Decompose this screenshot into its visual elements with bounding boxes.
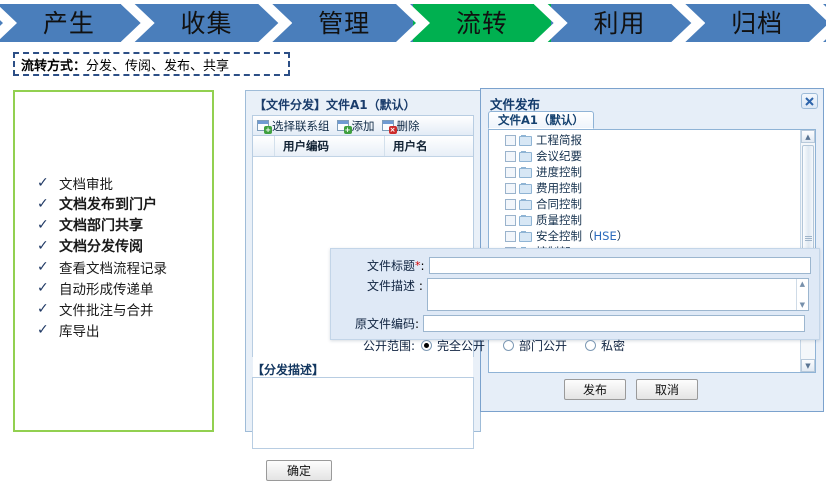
textarea-scroll-up-icon[interactable]: ▲ [797,280,808,288]
tree-checkbox[interactable] [505,151,516,162]
feature-item-label: 库导出 [59,320,100,340]
radio-button[interactable] [585,340,596,351]
form-row-title: 文件标题*: [339,257,811,274]
flow-method-label: 流转方式： [21,55,86,74]
tree-checkbox[interactable] [505,215,516,226]
screenshot-root: 产生收集管理流转利用归档 流转方式： 分发、传阅、发布、共享 ✓文档审批✓文档发… [0,0,826,436]
scope-radio-option[interactable]: 私密 [585,337,625,354]
tree-node-label: 费用控制 [536,180,582,196]
check-icon: ✓ [37,238,59,254]
window-delete-icon: × [382,120,395,132]
feature-item: ✓文档发布到门户 [37,193,167,214]
distribution-panel-title: 【文件分发】文件A1（默认） [254,96,416,113]
process-flow-band: 产生收集管理流转利用归档 [0,4,826,42]
scope-radio-label: 私密 [601,337,625,354]
tree-checkbox[interactable] [505,167,516,178]
check-icon: ✓ [37,196,59,212]
tree-node-label: 工程简报 [536,132,582,148]
field-label-origcode: 原文件编码 [339,315,415,332]
original-file-code-input[interactable] [423,315,805,332]
tree-checkbox[interactable] [505,183,516,194]
field-label-description: 文件描述 [339,278,415,295]
grid-column-username: 用户名 [385,136,473,156]
feature-item: ✓库导出 [37,319,167,340]
grid-column-select [253,136,275,156]
tree-node[interactable]: 质量控制 [489,212,799,228]
scroll-down-icon[interactable]: ▼ [801,359,815,372]
field-label-scope: 公开范围: [339,337,415,354]
distribution-desc-title: 【分发描述】 [252,361,324,378]
check-icon: ✓ [37,175,59,191]
feature-list-box: ✓文档审批✓文档发布到门户✓文档部门共享✓文档分发传阅✓查看文档流程记录✓自动形… [13,90,214,432]
process-step-label: 产生 [43,11,95,36]
flow-method-note: 流转方式： 分发、传阅、发布、共享 [13,52,290,76]
window-add-icon: + [257,120,270,132]
tree-checkbox[interactable] [505,135,516,146]
toolbar-add-action[interactable]: +选择联系组 [257,118,330,134]
close-glyph [805,97,814,106]
radio-button[interactable] [503,340,514,351]
folder-icon [519,231,532,242]
form-row-description: 文件描述 : ▲ ▼ [339,278,809,311]
process-step-label: 流转 [456,11,508,36]
process-step-5[interactable]: 利用 [551,4,689,42]
feature-item: ✓自动形成传递单 [37,277,167,298]
file-description-textarea[interactable]: ▲ ▼ [427,278,809,311]
folder-icon [519,199,532,210]
check-icon: ✓ [37,280,59,296]
feature-item-label: 文件批注与合并 [59,299,154,319]
feature-item-label: 文档分发传阅 [59,236,143,256]
radio-selected-dot [424,343,429,348]
process-step-label: 管理 [318,11,370,36]
feature-item-label: 文档部门共享 [59,215,143,235]
textarea-scrollbar[interactable]: ▲ ▼ [796,279,808,310]
publish-dialog-tabbar: 文件A1（默认） [488,111,816,130]
grid-column-usercode: 用户编码 [275,136,385,156]
scope-radio-label: 部门公开 [519,337,567,354]
flow-method-value: 分发、传阅、发布、共享 [86,55,229,74]
scrollbar-grip-icon [805,236,812,242]
tree-node-label: 合同控制 [536,196,582,212]
toolbar-add-action[interactable]: +添加 [337,118,375,134]
textarea-scroll-down-icon[interactable]: ▼ [797,301,808,309]
process-step-6[interactable]: 归档 [688,4,826,42]
process-step-1[interactable]: 产生 [0,4,138,42]
tree-node-label: 安全控制（HSE） [536,228,628,244]
tree-node-label: 质量控制 [536,212,582,228]
process-step-label: 利用 [593,11,645,36]
folder-icon [519,183,532,194]
check-icon: ✓ [37,217,59,233]
tree-node[interactable]: 进度控制 [489,164,799,180]
check-icon: ✓ [37,301,59,317]
tree-node-label: 会议纪要 [536,148,582,164]
process-step-label: 归档 [731,11,783,36]
scroll-up-icon[interactable]: ▲ [801,130,815,143]
publish-button[interactable]: 发布 [564,379,626,400]
form-row-scope: 公开范围: 完全公开部门公开私密 [339,337,643,354]
tree-node[interactable]: 费用控制 [489,180,799,196]
tree-node[interactable]: 会议纪要 [489,148,799,164]
tree-node[interactable]: 工程简报 [489,132,799,148]
feature-item-label: 查看文档流程记录 [59,257,167,277]
distribution-desc-input[interactable] [252,377,474,449]
distribution-toolbar: +选择联系组+添加×删除 [252,115,474,135]
check-icon: ✓ [37,322,59,338]
toolbar-item-label: 选择联系组 [272,118,330,134]
file-title-input[interactable] [429,257,811,274]
feature-item: ✓文档部门共享 [37,214,167,235]
feature-item: ✓文档分发传阅 [37,235,167,256]
folder-icon [519,167,532,178]
toolbar-item-label: 删除 [397,118,420,134]
radio-button[interactable] [421,340,432,351]
feature-item-label: 文档发布到门户 [59,194,157,214]
window-add-icon: + [337,120,350,132]
check-icon: ✓ [37,259,59,275]
feature-item: ✓文档审批 [37,172,167,193]
toolbar-item-label: 添加 [352,118,375,134]
field-label-title: 文件标题 [339,257,415,274]
feature-list: ✓文档审批✓文档发布到门户✓文档部门共享✓文档分发传阅✓查看文档流程记录✓自动形… [37,172,167,340]
toolbar-delete-action[interactable]: ×删除 [382,118,420,134]
tree-node[interactable]: 安全控制（HSE） [489,228,799,244]
feature-item-label: 自动形成传递单 [59,278,154,298]
tree-node[interactable]: 合同控制 [489,196,799,212]
tab-file-a1[interactable]: 文件A1（默认） [488,111,594,129]
scope-radio-label: 完全公开 [437,337,485,354]
process-step-4[interactable]: 流转 [413,4,551,42]
cancel-button[interactable]: 取消 [636,379,698,400]
scope-radio-option[interactable]: 完全公开 [421,337,485,354]
close-icon[interactable] [801,93,818,109]
scope-radio-option[interactable]: 部门公开 [503,337,567,354]
process-step-3[interactable]: 管理 [275,4,413,42]
folder-icon [519,151,532,162]
tree-node-label: 进度控制 [536,164,582,180]
publish-dialog-buttons: 发布 取消 [488,379,816,403]
form-row-origcode: 原文件编码: [339,315,805,332]
user-grid-header: 用户编码 用户名 [253,136,473,157]
tree-checkbox[interactable] [505,199,516,210]
confirm-button[interactable]: 确定 [266,460,332,481]
feature-item: ✓文件批注与合并 [37,298,167,319]
feature-item-label: 文档审批 [59,173,113,193]
folder-icon [519,215,532,226]
tree-checkbox[interactable] [505,231,516,242]
file-info-form: 文件标题*: 文件描述 : ▲ ▼ 原文件编码: 公开范围: 完全公开部门公开私… [330,248,820,340]
process-step-label: 收集 [180,11,232,36]
feature-item: ✓查看文档流程记录 [37,256,167,277]
folder-icon [519,135,532,146]
process-step-2[interactable]: 收集 [138,4,276,42]
